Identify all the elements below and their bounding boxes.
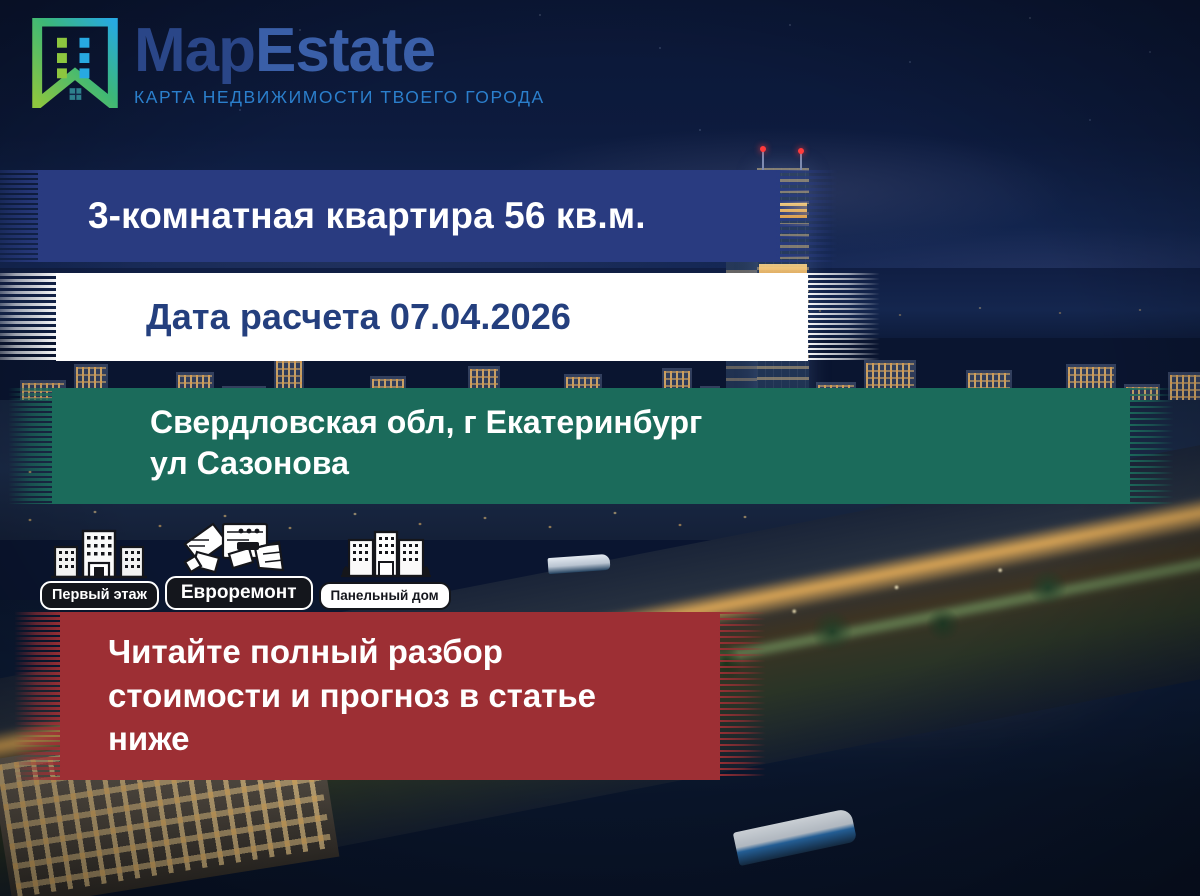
calculation-date-banner: Дата расчета 07.04.2026 <box>56 273 808 361</box>
brand-name: MapEstate <box>134 22 545 81</box>
badge-panel-house-label: Панельный дом <box>319 582 451 610</box>
renovation-tools-icon <box>179 518 299 580</box>
property-title-banner: 3-комнатная квартира 56 кв.м. <box>38 170 780 262</box>
badge-panel-house[interactable]: Панельный дом <box>319 526 451 610</box>
cta-line-1: Читайте полный разбор <box>108 630 596 674</box>
cta-text: Читайте полный разбор стоимости и прогно… <box>108 630 596 761</box>
property-feature-badges: Первый этаж <box>40 518 451 610</box>
address-line-street: ул Сазонова <box>150 443 702 484</box>
brand-tagline: КАРТА НЕДВИЖИМОСТИ ТВОЕГО ГОРОДА <box>134 87 545 108</box>
brand-logo[interactable]: MapEstate КАРТА НЕДВИЖИМОСТИ ТВОЕГО ГОРО… <box>30 18 545 108</box>
address-banner: Свердловская обл, г Екатеринбург ул Сазо… <box>52 388 1130 504</box>
property-title-text: 3-комнатная квартира 56 кв.м. <box>88 195 646 237</box>
calculation-date-text: Дата расчета 07.04.2026 <box>146 296 571 338</box>
brand-name-part1: Map <box>134 16 255 85</box>
badge-euro-renovation[interactable]: Евроремонт <box>165 518 313 610</box>
brand-name-part2: Estate <box>255 16 435 85</box>
badge-euro-renovation-label: Евроремонт <box>165 576 313 610</box>
poster-header: MapEstate КАРТА НЕДВИЖИМОСТИ ТВОЕГО ГОРО… <box>0 0 1200 140</box>
cta-banner: Читайте полный разбор стоимости и прогно… <box>60 612 720 780</box>
address-text: Свердловская обл, г Екатеринбург ул Сазо… <box>150 402 702 484</box>
bookmark-building-icon <box>30 18 120 108</box>
badge-first-floor[interactable]: Первый этаж <box>40 525 159 610</box>
low-rise-building-icon <box>49 525 149 585</box>
address-line-region-city: Свердловская обл, г Екатеринбург <box>150 402 702 443</box>
cta-line-3: ниже <box>108 717 596 761</box>
badge-first-floor-label: Первый этаж <box>40 581 159 610</box>
cta-line-2: стоимости и прогноз в статье <box>108 674 596 718</box>
panel-house-icon <box>335 526 435 586</box>
property-promo-poster: MapEstate КАРТА НЕДВИЖИМОСТИ ТВОЕГО ГОРО… <box>0 0 1200 896</box>
